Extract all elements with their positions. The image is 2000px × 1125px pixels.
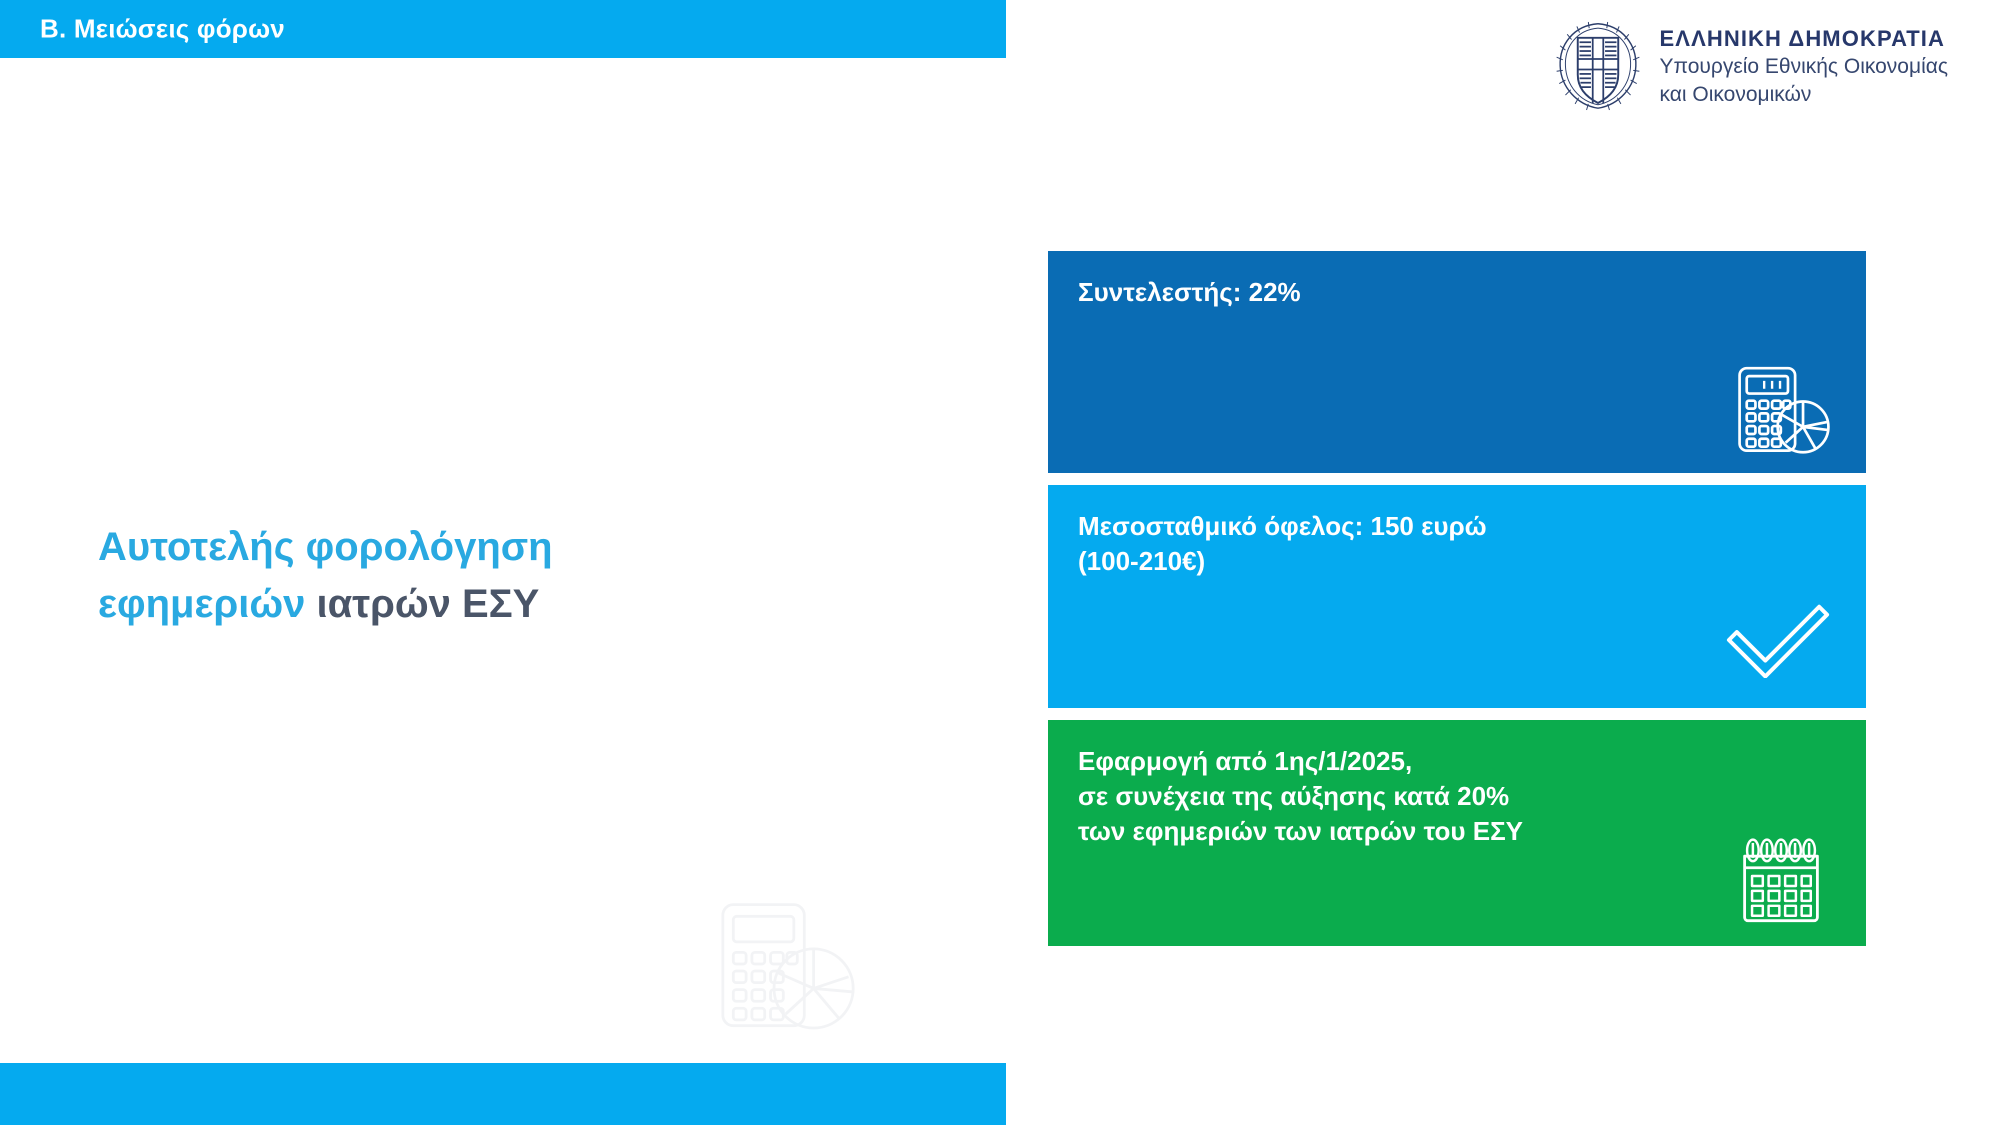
top-accent-bar: Β. Μειώσεις φόρων — [0, 0, 1006, 58]
card-schedule: Εφαρμογή από 1ης/1/2025, σε συνέχεια της… — [1048, 720, 1866, 946]
greek-coat-of-arms-icon — [1554, 20, 1642, 112]
card-rate: Συντελεστής: 22% — [1048, 251, 1866, 473]
calculator-pie-chart-icon — [1736, 365, 1832, 457]
checkmark-icon — [1722, 602, 1834, 678]
calendar-icon — [1738, 838, 1824, 924]
logo-ministry-line-1: Υπουργείο Εθνικής Οικονομίας — [1660, 53, 1948, 81]
calculator-pie-chart-watermark-icon — [718, 900, 858, 1035]
card-rate-text: Συντελεστής: 22% — [1078, 275, 1836, 310]
card-benefit: Μεσοσταθμικό όφελος: 150 ευρώ (100-210€) — [1048, 485, 1866, 708]
card-schedule-text: Εφαρμογή από 1ης/1/2025, σε συνέχεια της… — [1078, 744, 1836, 848]
section-label: Β. Μειώσεις φόρων — [40, 14, 285, 45]
page-title-dark: ιατρών ΕΣΥ — [317, 582, 540, 626]
bottom-accent-bar — [0, 1063, 1006, 1125]
info-cards-column: Συντελεστής: 22% Μεσοσταθμικό όφελος: 15… — [1048, 251, 1866, 946]
logo-ministry-line-2: και Οικονομικών — [1660, 81, 1948, 109]
ministry-logo-lockup: ΕΛΛΗΝΙΚΗ ΔΗΜΟΚΡΑΤΙΑ Υπουργείο Εθνικής Οι… — [1554, 20, 1948, 112]
page-title: Αυτοτελής φορολόγηση εφημεριών ιατρών ΕΣ… — [98, 519, 718, 633]
logo-republic-line: ΕΛΛΗΝΙΚΗ ΔΗΜΟΚΡΑΤΙΑ — [1660, 24, 1948, 53]
ministry-logo-text: ΕΛΛΗΝΙΚΗ ΔΗΜΟΚΡΑΤΙΑ Υπουργείο Εθνικής Οι… — [1660, 20, 1948, 108]
card-benefit-text: Μεσοσταθμικό όφελος: 150 ευρώ (100-210€) — [1078, 509, 1836, 579]
